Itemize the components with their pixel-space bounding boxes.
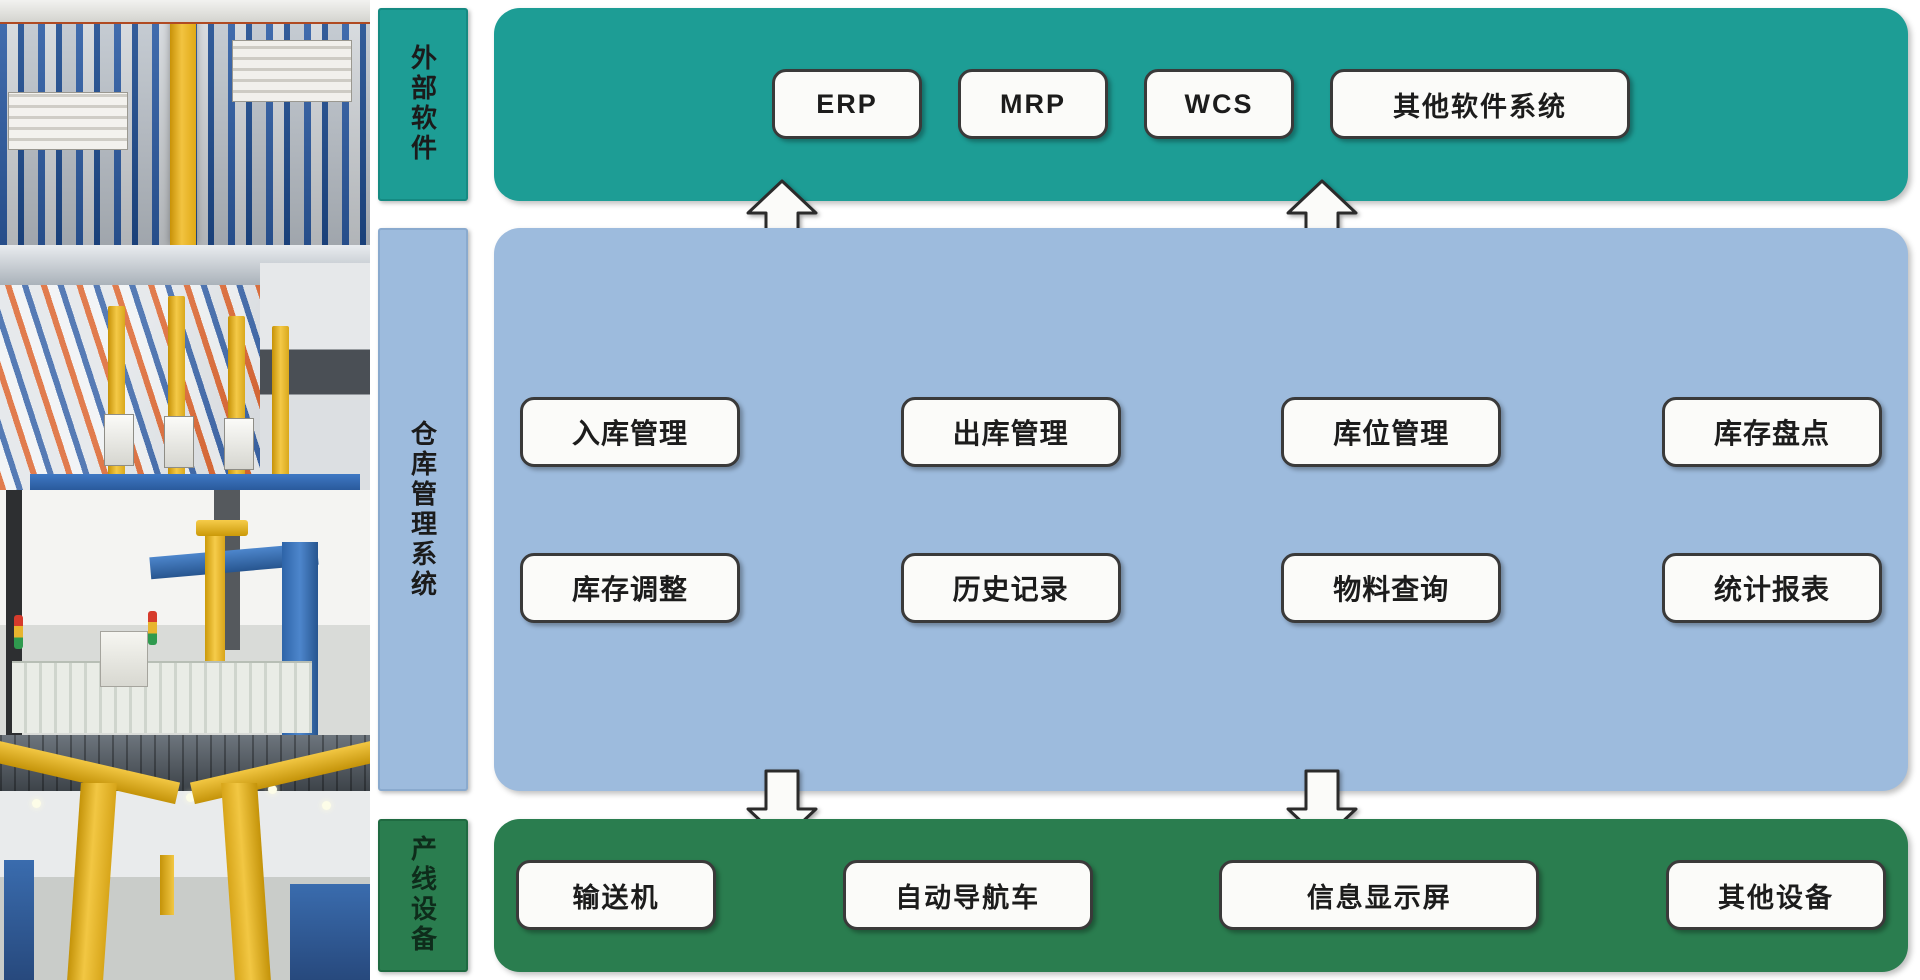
connector-band-top	[378, 201, 1908, 229]
wms-node-row-2: 库存调整 历史记录 物料查询 统计报表	[520, 553, 1882, 623]
robot-head	[196, 520, 248, 536]
node-inbound-management[interactable]: 入库管理	[520, 397, 740, 467]
node-history-records[interactable]: 历史记录	[901, 553, 1121, 623]
ceiling-lamp-icon	[32, 799, 41, 808]
gantry-column	[221, 783, 271, 980]
node-erp[interactable]: ERP	[772, 69, 922, 139]
node-other-equipment[interactable]: 其他设备	[1666, 860, 1886, 930]
node-agv[interactable]: 自动导航车	[843, 860, 1093, 930]
production-line-node-row: 输送机 自动导航车 信息显示屏 其他设备	[516, 860, 1886, 930]
node-outbound-management[interactable]: 出库管理	[901, 397, 1121, 467]
machine-unit	[290, 884, 370, 980]
node-other-software-systems[interactable]: 其他软件系统	[1330, 69, 1630, 139]
crane-carriage	[104, 414, 134, 466]
wms-panel: 入库管理 出库管理 库位管理 库存盘点 库存调整 历史记录 物料查询 统计报表	[494, 228, 1908, 791]
layer-external-software: 外部软件 ERP MRP WCS 其他软件系统	[378, 8, 1908, 201]
wms-node-row-1: 入库管理 出库管理 库位管理 库存盘点	[520, 397, 1882, 467]
node-information-display[interactable]: 信息显示屏	[1219, 860, 1539, 930]
layer-label-warehouse-management-system: 仓库管理系统	[378, 228, 468, 791]
warning-sign-icon	[74, 2, 130, 18]
connector-band-bottom	[378, 791, 1908, 819]
node-wcs[interactable]: WCS	[1144, 69, 1294, 139]
node-mrp[interactable]: MRP	[958, 69, 1108, 139]
node-inventory-adjustment[interactable]: 库存调整	[520, 553, 740, 623]
conveyor-bed	[12, 661, 312, 733]
machine-unit	[4, 860, 34, 980]
signal-tower-icon	[14, 615, 23, 649]
photo-stacker-crane-aisle	[0, 245, 370, 490]
crane-rail-base	[30, 474, 360, 490]
page-root: 外部软件 ERP MRP WCS 其他软件系统	[0, 0, 1920, 980]
node-inventory-count[interactable]: 库存盘点	[1662, 397, 1882, 467]
layer-warehouse-management-system: 仓库管理系统 入库管理 出库管理 库位管理 库存盘点 库存调整 历史记录 物料查…	[378, 228, 1908, 791]
external-software-node-row: ERP MRP WCS 其他软件系统	[520, 69, 1882, 139]
external-software-panel: ERP MRP WCS 其他软件系统	[494, 8, 1908, 201]
layer-label-production-line-equipment: 产线设备	[378, 819, 468, 972]
conveyor-hook	[160, 855, 174, 915]
robot-arm	[205, 522, 225, 662]
production-line-panel: 输送机 自动导航车 信息显示屏 其他设备	[494, 819, 1908, 972]
node-location-management[interactable]: 库位管理	[1281, 397, 1501, 467]
ceiling-lamp-icon	[322, 801, 331, 810]
photo-overhead-conveyor-line	[0, 735, 370, 980]
photo-strip	[0, 0, 370, 980]
layer-production-line-equipment: 产线设备 输送机 自动导航车 信息显示屏 其他设备	[378, 819, 1908, 972]
photo-automated-storage-racking	[0, 0, 370, 245]
node-statistical-reports[interactable]: 统计报表	[1662, 553, 1882, 623]
gantry-column	[67, 783, 117, 980]
pallet-stack	[232, 40, 352, 102]
signal-tower-icon	[148, 611, 157, 645]
crane-carriage	[224, 418, 254, 470]
crane-carriage	[164, 416, 194, 468]
warning-sign-icon	[166, 2, 222, 18]
control-cabinet	[100, 631, 148, 687]
node-conveyor[interactable]: 输送机	[516, 860, 716, 930]
architecture-diagram: 外部软件 ERP MRP WCS 其他软件系统	[370, 0, 1920, 980]
photo-gantry-robot-cell	[0, 490, 370, 735]
layer-label-external-software: 外部软件	[378, 8, 468, 201]
node-material-query[interactable]: 物料查询	[1281, 553, 1501, 623]
crane-mast	[272, 326, 289, 476]
pallet-stack	[8, 92, 128, 150]
